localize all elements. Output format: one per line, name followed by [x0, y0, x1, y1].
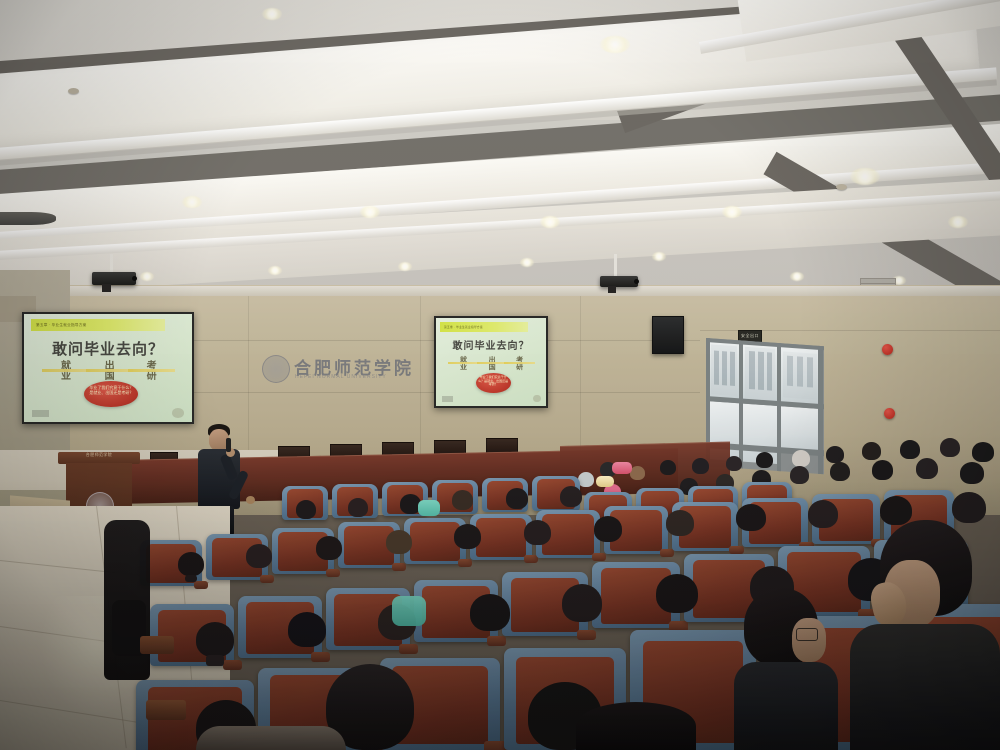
- downlight: [790, 272, 804, 281]
- audience-head: [830, 462, 850, 481]
- university-name-en: HEFEI NORMAL UNIVERSITY: [295, 374, 387, 380]
- slide-col1-bottom: 业: [51, 372, 81, 382]
- audience-head: [560, 486, 582, 507]
- audience-head: [916, 458, 938, 479]
- audience-head: [808, 500, 838, 528]
- slide-right: 第五章 · 毕业生就业指导方案 敢问毕业去向？ 就 业 出 国 考 研: [436, 318, 546, 406]
- air-duct: [0, 212, 56, 225]
- downlight: [722, 206, 742, 218]
- slide-col3-bottom: 研: [137, 372, 167, 382]
- ceiling: [0, 0, 1000, 330]
- slide-footer-logo: [32, 410, 49, 416]
- fire-alarm-icon: [882, 344, 893, 355]
- downlight: [360, 206, 380, 218]
- exterior-building: [783, 351, 817, 399]
- audience-jacket-teal: [418, 500, 440, 516]
- downlight: [600, 36, 630, 53]
- audience-head: [790, 466, 809, 484]
- audience-head: [826, 446, 844, 463]
- audience-head: [972, 442, 994, 462]
- presenter-hand: [246, 496, 255, 504]
- slide-banner: 第五章 · 毕业生就业指导方案: [440, 322, 528, 332]
- slide-column-3: 考 研: [510, 357, 530, 371]
- slide-left: 第五章 · 毕业生就业指导方案 敢问毕业去向？ 就 业 出 国 考 研: [24, 314, 192, 422]
- microphone-icon: [226, 438, 231, 452]
- slide-oval-text: 毕业了我们究竟干什么？是就业、出国还是考研？: [88, 385, 135, 395]
- audience-head: [196, 622, 234, 657]
- audience-head: [562, 584, 602, 622]
- audience-person-hand-on-cheek: [866, 520, 994, 750]
- slide-title: 敢问毕业去向？: [24, 338, 192, 359]
- audience-head: [792, 450, 810, 467]
- audience-head: [452, 490, 473, 510]
- audience-head: [666, 510, 694, 536]
- slide-highlight-oval: 毕业了我们究竟干什么？是就业、出国还是考研？: [84, 381, 138, 407]
- audience-head: [386, 530, 412, 554]
- audience-head: [178, 552, 204, 576]
- audience-jacket-teal: [392, 596, 426, 626]
- audience-head: [630, 466, 645, 480]
- downlight: [182, 196, 202, 208]
- slide-oval-text: 毕业了我们究竟干什么？是就业、出国还是考研？: [478, 376, 509, 387]
- audience-head: [296, 500, 316, 519]
- projection-screen-right: 第五章 · 毕业生就业指导方案 敢问毕业去向？ 就 业 出 国 考 研: [434, 316, 548, 408]
- audience-head: [862, 442, 881, 460]
- fire-alarm-icon: [884, 408, 895, 419]
- audience-head: [900, 440, 920, 459]
- wall-seam: [580, 296, 581, 456]
- slide-banner-text: 第五章 · 毕业生就业指导方案: [36, 322, 86, 327]
- university-crest-icon: [262, 355, 290, 383]
- audience-head: [524, 520, 551, 545]
- audience-head: [952, 492, 986, 523]
- audience-head: [940, 438, 960, 457]
- exit-sign-text: 安全出口: [741, 333, 759, 339]
- audience-cap-cream: [596, 476, 614, 487]
- exterior-building: [745, 347, 775, 401]
- audience-head: [692, 458, 709, 474]
- foreground-shoulders: [196, 726, 346, 750]
- slide-crest-icon: [172, 408, 184, 418]
- audience-head: [726, 456, 742, 471]
- slide-crest-icon: [533, 395, 541, 403]
- audience-head: [578, 472, 594, 487]
- seat-armrest: [140, 636, 174, 654]
- wall-seam: [420, 296, 421, 456]
- audience-head: [594, 516, 622, 542]
- auditorium-photo: 第五章 · 毕业生就业指导方案 敢问毕业去向？ 就 业 出 国 考 研: [0, 0, 1000, 750]
- slide-col3-bottom: 研: [510, 364, 530, 371]
- downlight: [850, 168, 880, 185]
- audience-head: [348, 498, 368, 517]
- downlight: [520, 258, 534, 267]
- audience-head: [470, 594, 510, 631]
- foreground-head: [576, 702, 696, 750]
- slide-highlight-oval: 毕业了我们究竟干什么？是就业、出国还是考研？: [476, 373, 511, 393]
- slide-col2-bottom: 国: [482, 364, 502, 371]
- audience-head: [656, 574, 698, 613]
- podium-caption: 合肥师范学院: [58, 452, 141, 458]
- downlight: [140, 272, 154, 281]
- audience-head: [736, 504, 766, 531]
- slide-footer-logo: [442, 396, 453, 401]
- slide-banner-text: 第五章 · 毕业生就业指导方案: [444, 325, 483, 329]
- audience-person-glasses: [740, 588, 836, 750]
- slide-title: 敢问毕业去向？: [436, 337, 546, 352]
- university-wall-sign: 合肥师范学院 HEFEI NORMAL UNIVERSITY: [262, 352, 412, 386]
- audience-head: [454, 524, 481, 549]
- audience-shoulders: [734, 662, 838, 750]
- audience-head: [506, 488, 528, 509]
- downlight: [262, 8, 282, 20]
- slide-column-1: 就 业: [51, 362, 81, 382]
- wall-speaker: [652, 316, 684, 354]
- slide-column-2: 出 国: [482, 357, 502, 371]
- downlight: [540, 216, 560, 228]
- slide-col1-bottom: 业: [454, 364, 474, 371]
- downlight: [948, 216, 968, 228]
- slide-column-1: 就 业: [454, 357, 474, 371]
- audience-head: [246, 544, 272, 568]
- audience-head: [288, 612, 326, 647]
- wall-crown-molding: [0, 286, 1000, 296]
- smoke-detector-icon: [836, 184, 847, 190]
- glasses-icon: [796, 628, 818, 641]
- audience-head: [660, 460, 676, 475]
- audience-head: [960, 462, 984, 484]
- slide-column-3: 考 研: [137, 362, 167, 382]
- downlight: [652, 252, 666, 261]
- audience-head: [872, 460, 893, 480]
- smoke-detector-icon: [68, 88, 79, 94]
- audience-shoulders: [850, 624, 1000, 750]
- projection-screen-left: 第五章 · 毕业生就业指导方案 敢问毕业去向？ 就 业 出 国 考 研: [22, 312, 194, 424]
- downlight: [268, 266, 282, 275]
- audience-head: [316, 536, 342, 560]
- seat-armrest: [146, 700, 186, 720]
- slide-column-2: 出 国: [95, 362, 125, 382]
- audience-cap-pink: [612, 462, 632, 474]
- downlight: [398, 262, 412, 271]
- audience-head: [756, 452, 773, 468]
- slide-banner: 第五章 · 毕业生就业指导方案: [31, 319, 165, 331]
- exterior-building: [711, 344, 737, 396]
